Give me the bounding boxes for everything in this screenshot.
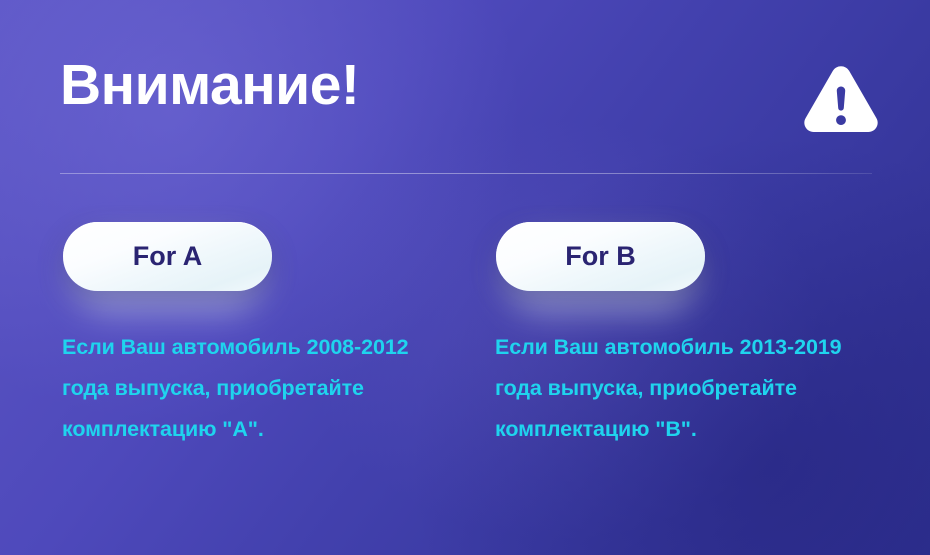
option-b-description-line-2: года выпуска, приобретайте (495, 368, 895, 409)
option-a-description-line-1: Если Ваш автомобиль 2008-2012 (62, 327, 462, 368)
option-column-b: For B (496, 222, 705, 291)
button-wrapper-a: For A (63, 222, 272, 291)
option-a-description-line-2: года выпуска, приобретайте (62, 368, 462, 409)
for-b-button[interactable]: For B (496, 222, 705, 291)
option-a-description-line-3: комплектацию "A". (62, 409, 462, 450)
option-column-a: For A (63, 222, 272, 291)
header-divider (60, 173, 872, 174)
banner-content: Внимание! For A Если Ваш автомобиль 2008… (0, 0, 930, 555)
page-title: Внимание! (60, 56, 359, 116)
option-a-description: Если Ваш автомобиль 2008-2012 года выпус… (62, 327, 462, 450)
option-b-description-line-3: комплектацию "B". (495, 409, 895, 450)
button-wrapper-b: For B (496, 222, 705, 291)
option-b-description-line-1: Если Ваш автомобиль 2013-2019 (495, 327, 895, 368)
for-a-button[interactable]: For A (63, 222, 272, 291)
attention-banner: Внимание! For A Если Ваш автомобиль 2008… (0, 0, 930, 555)
option-b-description: Если Ваш автомобиль 2013-2019 года выпус… (495, 327, 895, 450)
warning-triangle-icon (803, 62, 879, 134)
